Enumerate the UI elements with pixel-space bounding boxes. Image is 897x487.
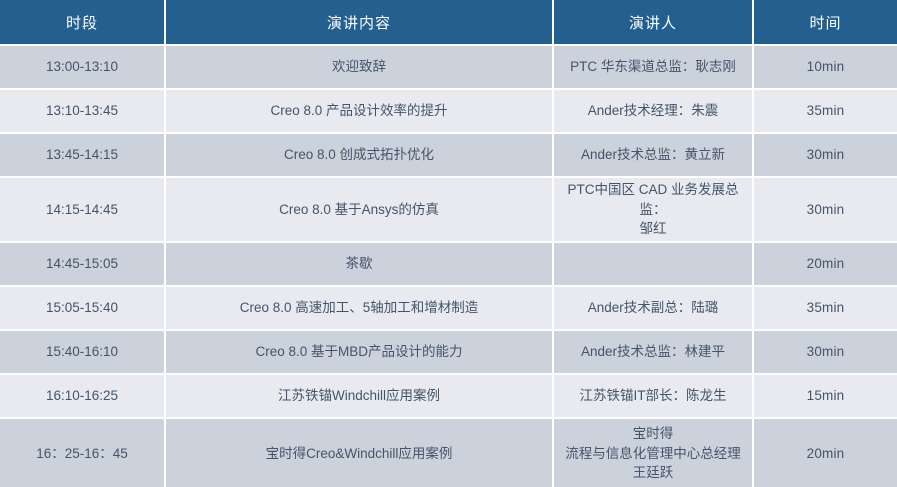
- cell-time-slot: 13:45-14:15: [0, 133, 165, 177]
- cell-duration: 15min: [753, 374, 897, 418]
- cell-speaker: PTC中国区 CAD 业务发展总监： 邹红: [553, 177, 753, 242]
- cell-speaker: PTC 华东渠道总监：耿志刚: [553, 45, 753, 89]
- cell-topic: Creo 8.0 产品设计效率的提升: [165, 89, 553, 133]
- cell-time-slot: 16:10-16:25: [0, 374, 165, 418]
- cell-topic: 江苏铁锚Windchill应用案例: [165, 374, 553, 418]
- cell-duration: 20min: [753, 418, 897, 487]
- cell-topic: Creo 8.0 基于MBD产品设计的能力: [165, 330, 553, 374]
- header-row: 时段 演讲内容 演讲人 时间: [0, 0, 897, 45]
- cell-time-slot: 13:00-13:10: [0, 45, 165, 89]
- cell-time-slot: 14:15-14:45: [0, 177, 165, 242]
- table-row: 15:05-15:40 Creo 8.0 高速加工、5轴加工和增材制造 Ande…: [0, 286, 897, 330]
- column-header-speaker: 演讲人: [553, 0, 753, 45]
- cell-topic: Creo 8.0 高速加工、5轴加工和增材制造: [165, 286, 553, 330]
- cell-duration: 35min: [753, 89, 897, 133]
- table-row: 13:45-14:15 Creo 8.0 创成式拓扑优化 Ander技术总监：黄…: [0, 133, 897, 177]
- cell-duration: 20min: [753, 242, 897, 286]
- column-header-topic: 演讲内容: [165, 0, 553, 45]
- cell-speaker: 宝时得 流程与信息化管理中心总经理 王廷跃: [553, 418, 753, 487]
- table-row: 16:10-16:25 江苏铁锚Windchill应用案例 江苏铁锚IT部长：陈…: [0, 374, 897, 418]
- cell-duration: 10min: [753, 45, 897, 89]
- table-row: 15:40-16:10 Creo 8.0 基于MBD产品设计的能力 Ander技…: [0, 330, 897, 374]
- cell-speaker: Ander技术总监：黄立新: [553, 133, 753, 177]
- table-row: 13:00-13:10 欢迎致辞 PTC 华东渠道总监：耿志刚 10min: [0, 45, 897, 89]
- cell-duration: 35min: [753, 286, 897, 330]
- column-header-time-slot: 时段: [0, 0, 165, 45]
- cell-topic: 茶歇: [165, 242, 553, 286]
- table-row: 14:45-15:05 茶歇 20min: [0, 242, 897, 286]
- cell-topic: Creo 8.0 创成式拓扑优化: [165, 133, 553, 177]
- cell-time-slot: 14:45-15:05: [0, 242, 165, 286]
- table-header: 时段 演讲内容 演讲人 时间: [0, 0, 897, 45]
- cell-duration: 30min: [753, 330, 897, 374]
- cell-duration: 30min: [753, 133, 897, 177]
- cell-time-slot: 15:40-16:10: [0, 330, 165, 374]
- agenda-table-container: 时段 演讲内容 演讲人 时间 13:00-13:10 欢迎致辞 PTC 华东渠道…: [0, 0, 897, 487]
- cell-topic: 宝时得Creo&Windchill应用案例: [165, 418, 553, 487]
- cell-speaker: Ander技术副总：陆璐: [553, 286, 753, 330]
- cell-topic: Creo 8.0 基于Ansys的仿真: [165, 177, 553, 242]
- table-body: 13:00-13:10 欢迎致辞 PTC 华东渠道总监：耿志刚 10min 13…: [0, 45, 897, 487]
- cell-speaker: Ander技术总监：林建平: [553, 330, 753, 374]
- cell-time-slot: 15:05-15:40: [0, 286, 165, 330]
- table-row: 13:10-13:45 Creo 8.0 产品设计效率的提升 Ander技术经理…: [0, 89, 897, 133]
- cell-time-slot: 13:10-13:45: [0, 89, 165, 133]
- cell-duration: 30min: [753, 177, 897, 242]
- table-row: 16：25-16：45 宝时得Creo&Windchill应用案例 宝时得 流程…: [0, 418, 897, 487]
- column-header-duration: 时间: [753, 0, 897, 45]
- table-row: 14:15-14:45 Creo 8.0 基于Ansys的仿真 PTC中国区 C…: [0, 177, 897, 242]
- agenda-table: 时段 演讲内容 演讲人 时间 13:00-13:10 欢迎致辞 PTC 华东渠道…: [0, 0, 897, 487]
- cell-topic: 欢迎致辞: [165, 45, 553, 89]
- cell-time-slot: 16：25-16：45: [0, 418, 165, 487]
- cell-speaker: Ander技术经理：朱震: [553, 89, 753, 133]
- cell-speaker: 江苏铁锚IT部长：陈龙生: [553, 374, 753, 418]
- cell-speaker: [553, 242, 753, 286]
